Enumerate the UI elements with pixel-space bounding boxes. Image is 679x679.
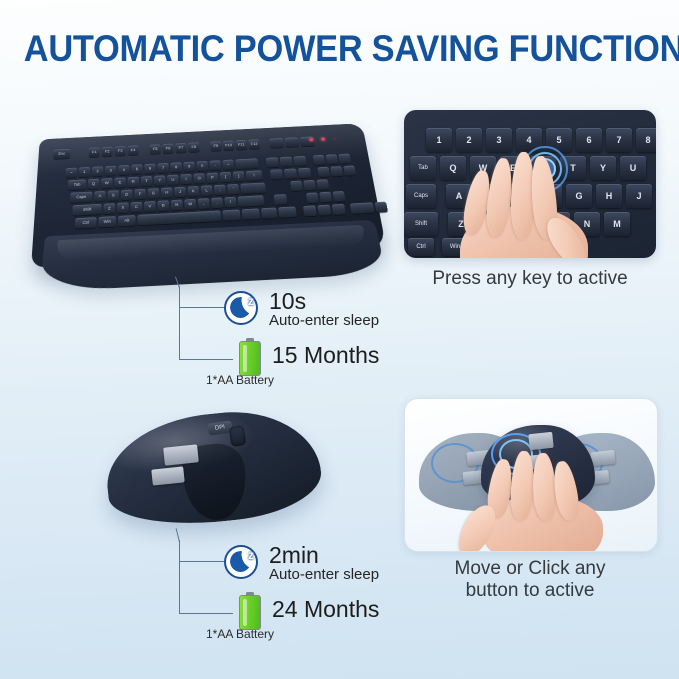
- key-delete: [270, 169, 283, 179]
- numpad-7: [317, 167, 330, 177]
- key-prtsc: [269, 138, 284, 148]
- key-semicolon: ;: [214, 185, 226, 196]
- mouse-leader-vertical: [179, 540, 180, 614]
- key-i: I: [180, 174, 192, 185]
- key-f1: F1: [89, 147, 100, 157]
- move-click-demo-panel: [404, 398, 658, 552]
- keyboard-body: Esc F1 F2 F3 F4 F5 F6 F7 F8 F9 F10 F11 F…: [24, 104, 396, 284]
- press-key-caption: Press any key to active: [404, 268, 656, 290]
- key-h: H: [161, 187, 173, 198]
- key-pageup: [293, 156, 306, 166]
- scroll-lock-led: [333, 137, 337, 140]
- key-tilde: ~: [65, 168, 77, 178]
- moon-icon-z-glyph: z: [248, 294, 254, 308]
- key-5: 5: [131, 164, 142, 174]
- key-f: F: [134, 189, 146, 200]
- numpad-numlock: [313, 155, 326, 165]
- key-f8: F8: [188, 142, 200, 152]
- key-period: .: [211, 197, 223, 208]
- inset-key-1: 1: [426, 128, 452, 152]
- inset-key-q: Q: [440, 156, 466, 180]
- key-space: [137, 210, 221, 225]
- numpad-6: [316, 179, 329, 190]
- numpad-dot: [375, 202, 388, 213]
- mouse-moon-icon-z-glyph: z: [248, 548, 254, 562]
- battery-icon-cell: [239, 341, 261, 376]
- key-scrlk: [285, 137, 300, 147]
- key-win-left: Win: [98, 216, 116, 228]
- numpad-3: [332, 191, 345, 202]
- key-a: A: [94, 191, 106, 202]
- key-j: J: [174, 187, 186, 198]
- inset-key-8: 8: [636, 128, 656, 152]
- keyboard-sleep-label: Auto-enter sleep: [269, 312, 379, 329]
- mouse-center-dpi-button: [528, 432, 554, 450]
- inset-key-2: 2: [456, 128, 482, 152]
- key-8: 8: [170, 162, 182, 172]
- key-4: 4: [118, 165, 129, 175]
- key-bracketleft: [: [220, 172, 232, 182]
- keyboard-leader-branch-sleep: [179, 307, 227, 308]
- key-n: N: [171, 200, 183, 211]
- key-quote: ': [227, 184, 239, 195]
- numpad-1: [306, 192, 319, 203]
- key-r: R: [128, 177, 139, 188]
- key-f12: F12: [248, 139, 260, 149]
- mouse-sleep-label: Auto-enter sleep: [269, 566, 379, 583]
- mouse-leader-branch-sleep: [179, 561, 227, 562]
- mouse-scroll-wheel: [229, 425, 247, 447]
- key-f6: F6: [162, 144, 173, 154]
- key-0: 0: [196, 161, 208, 171]
- key-home: [280, 157, 293, 167]
- key-2: 2: [92, 166, 103, 176]
- key-slash: /: [224, 197, 236, 208]
- key-bracketright: ]: [233, 171, 245, 181]
- key-d: D: [121, 189, 133, 200]
- numpad-divide: [326, 154, 339, 164]
- move-click-caption: Move or Click any button to active: [404, 558, 656, 603]
- mouse-forward-button: [163, 444, 199, 465]
- key-z: Z: [103, 203, 115, 214]
- key-y: Y: [154, 175, 166, 186]
- key-fn: [242, 208, 260, 219]
- inset-key-shift: Shift: [404, 212, 438, 236]
- key-c: C: [131, 202, 143, 213]
- inset-key-ctrl: Ctrl: [408, 238, 434, 256]
- mouse-moon-sleep-icon: z: [224, 545, 258, 579]
- infographic-canvas: AUTOMATIC POWER SAVING FUNCTION Esc F1 F…: [0, 0, 679, 679]
- inset-key-tab: Tab: [410, 156, 436, 180]
- mouse-product-image: DPI: [100, 404, 340, 544]
- key-f3: F3: [115, 146, 126, 156]
- key-alt-right: [222, 209, 240, 220]
- page-title: AUTOMATIC POWER SAVING FUNCTION: [24, 28, 655, 70]
- mouse-battery-life: 24 Months: [272, 596, 379, 623]
- key-enter: [240, 183, 266, 194]
- key-o: O: [193, 173, 205, 183]
- key-arrow-right: [332, 204, 346, 215]
- key-ctrl-right: [278, 206, 297, 217]
- inset-key-3: 3: [486, 128, 512, 152]
- key-1: 1: [79, 167, 91, 177]
- key-esc: Esc: [53, 149, 70, 159]
- key-arrow-left: [303, 205, 317, 216]
- press-key-demo-panel: 1 2 3 4 5 6 7 8 Tab Q W E R T Y U Caps A…: [404, 110, 656, 258]
- key-6: 6: [144, 164, 155, 174]
- key-x: X: [117, 202, 129, 213]
- key-ctrl-left: Ctrl: [75, 217, 97, 229]
- key-t: T: [141, 176, 153, 187]
- numpad-multiply: [338, 154, 351, 164]
- inset-key-7: 7: [606, 128, 632, 152]
- move-click-caption-line1: Move or Click any: [404, 558, 656, 580]
- numpad-8: [330, 166, 343, 176]
- key-u: U: [167, 175, 179, 186]
- key-l: L: [201, 185, 213, 196]
- key-f4: F4: [128, 145, 139, 155]
- move-click-caption-line2: button to active: [404, 580, 656, 602]
- moon-sleep-icon: z: [224, 291, 258, 325]
- keyboard-leader-branch-battery: [179, 359, 233, 360]
- mouse-back-button: [151, 466, 184, 485]
- key-p: P: [206, 173, 218, 183]
- key-arrow-down: [317, 205, 331, 216]
- key-b: B: [157, 200, 169, 211]
- mouse-battery-icon-cell: [239, 595, 261, 630]
- inset-key-g: G: [566, 184, 592, 208]
- key-capslock: Caps: [70, 192, 92, 203]
- key-shift-right: [238, 195, 265, 207]
- key-f5: F5: [150, 144, 161, 154]
- key-insert: [266, 157, 279, 167]
- caps-lock-led: [321, 137, 325, 140]
- key-w: W: [101, 178, 112, 189]
- key-v: V: [144, 201, 156, 212]
- key-tab: Tab: [68, 179, 86, 190]
- inset-key-y: Y: [590, 156, 616, 180]
- key-7: 7: [157, 163, 169, 173]
- numpad-4: [290, 181, 303, 192]
- mouse-leader-branch-battery: [179, 613, 233, 614]
- key-minus: -: [209, 160, 221, 170]
- key-q: Q: [88, 179, 100, 190]
- key-f11: F11: [235, 140, 247, 150]
- key-shift-left: Shift: [72, 204, 101, 216]
- num-lock-led: [309, 138, 313, 141]
- mouse-battery-icon: [239, 592, 261, 630]
- key-backspace: [235, 158, 258, 169]
- key-g: G: [148, 188, 160, 199]
- key-menu: [261, 208, 278, 219]
- numpad-9: [343, 165, 356, 175]
- key-k: K: [187, 186, 199, 197]
- key-f9: F9: [210, 141, 222, 151]
- key-comma: ,: [198, 198, 210, 209]
- key-9: 9: [183, 162, 195, 172]
- key-f7: F7: [175, 143, 186, 153]
- keyboard-product-image: Esc F1 F2 F3 F4 F5 F6 F7 F8 F9 F10 F11 F…: [24, 104, 396, 299]
- key-alt-left: Alt: [118, 215, 136, 227]
- inset-key-h: H: [596, 184, 622, 208]
- key-m: M: [184, 199, 196, 210]
- keyboard-battery-type: 1*AA Battery: [206, 373, 274, 387]
- key-e: E: [114, 177, 125, 188]
- numpad-0: [350, 202, 375, 214]
- key-f10: F10: [223, 141, 235, 151]
- mouse-battery-type: 1*AA Battery: [206, 627, 274, 641]
- keyboard-battery-icon: [239, 338, 261, 376]
- mouse-sleep-time: 2min: [269, 542, 319, 569]
- inset-key-u: U: [620, 156, 646, 180]
- key-end: [284, 169, 297, 179]
- keyboard-sleep-time: 10s: [269, 288, 306, 315]
- keyboard-battery-life: 15 Months: [272, 342, 379, 369]
- numpad-2: [319, 192, 332, 203]
- key-equal: =: [222, 160, 234, 170]
- keyboard-indicator-leds: [309, 137, 337, 141]
- inset-key-capslock: Caps: [406, 184, 436, 208]
- inset-key-j: J: [626, 184, 652, 208]
- key-s: S: [108, 190, 120, 201]
- key-3: 3: [105, 166, 116, 176]
- ghost-right-side-button: [590, 450, 615, 466]
- key-f2: F2: [102, 147, 113, 157]
- inset-key-m: M: [604, 212, 630, 236]
- key-backslash: \: [246, 170, 263, 181]
- key-arrow-up: [274, 194, 288, 205]
- numpad-5: [303, 180, 316, 191]
- inset-key-6: 6: [576, 128, 602, 152]
- key-pagedown: [298, 168, 312, 178]
- keyboard-leader-vertical: [179, 286, 180, 360]
